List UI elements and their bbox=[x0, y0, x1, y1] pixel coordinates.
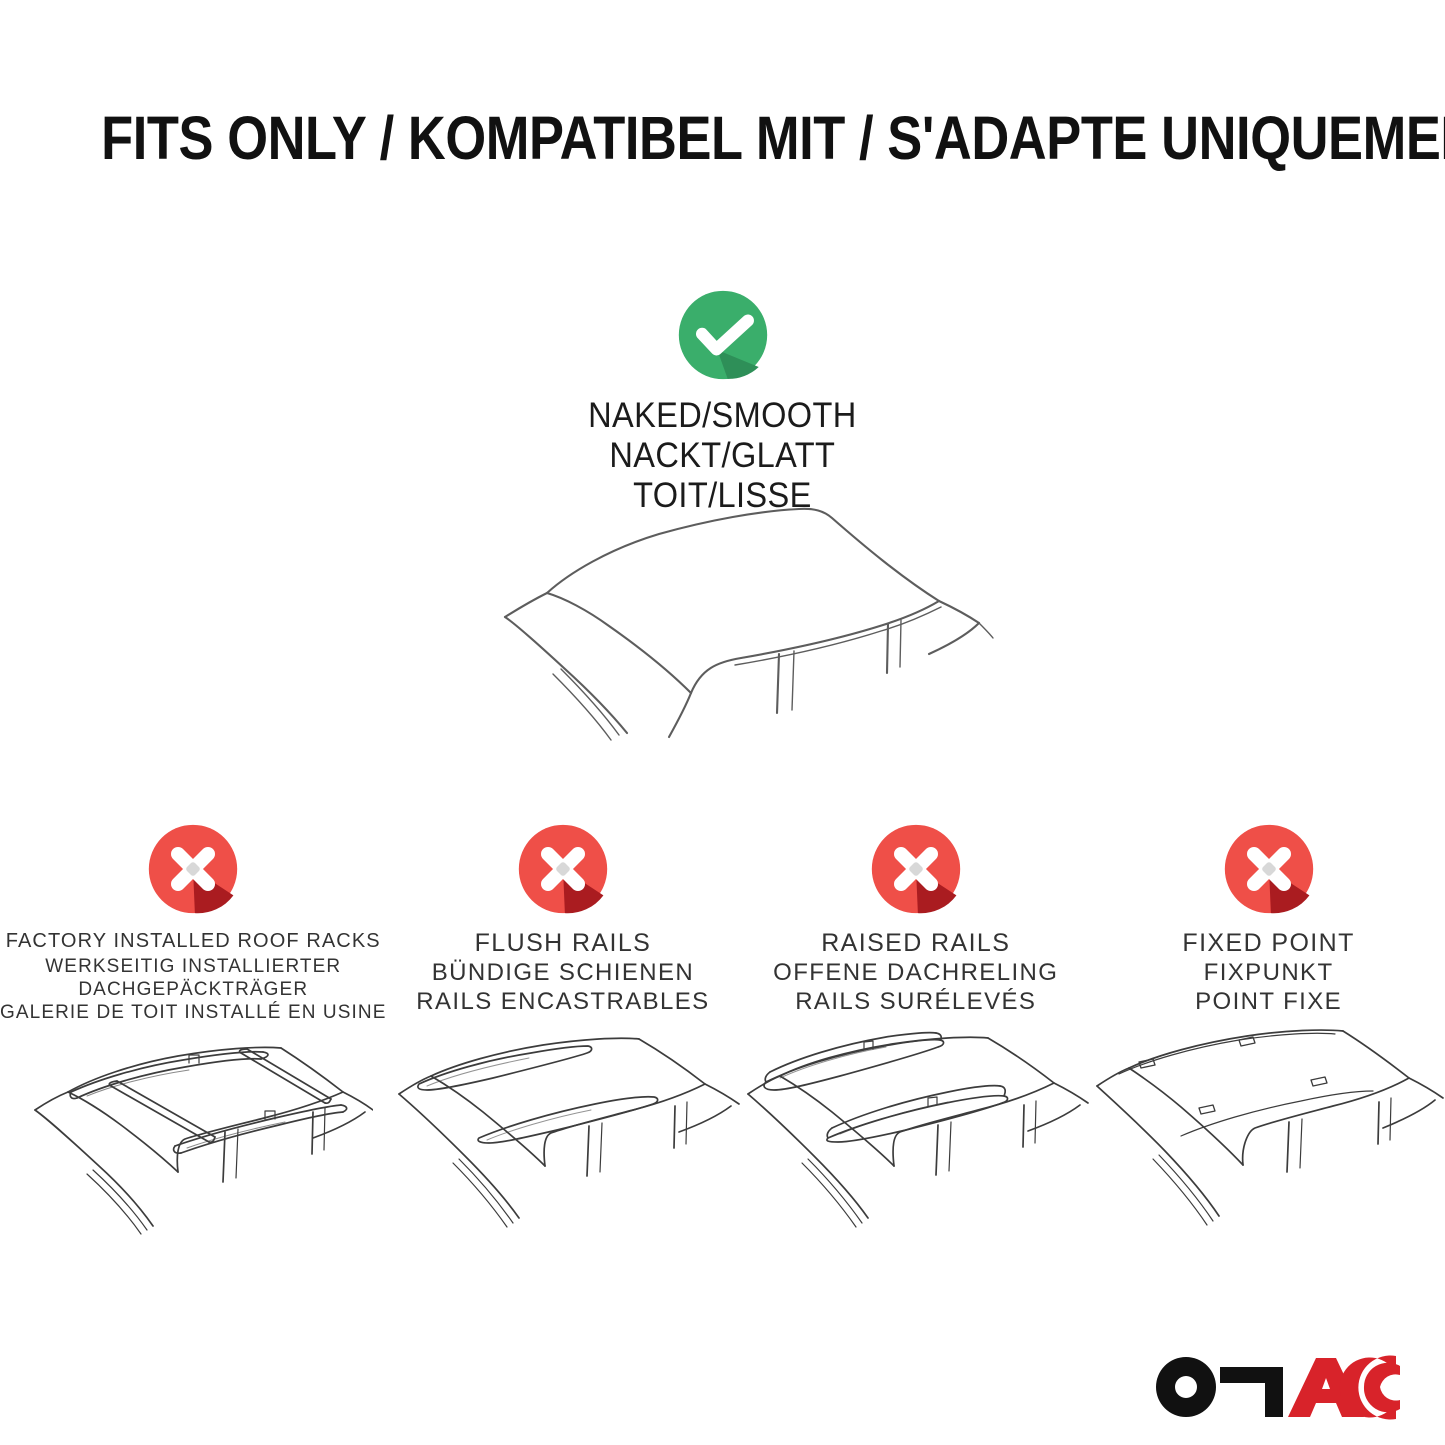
incompatible-item-factory-installed-roof-racks: FACTORY INSTALLED ROOF RACKS WERKSEITIG … bbox=[0, 822, 387, 1262]
x-circle-icon bbox=[869, 822, 963, 916]
compatible-label-de: NACKT/GLATT bbox=[588, 436, 857, 476]
car-roof-raised-rails-illustration bbox=[736, 1020, 1096, 1250]
incompatible-labels: FLUSH RAILS BÜNDIGE SCHIENEN RAILS ENCAS… bbox=[416, 928, 709, 1016]
car-roof-factory-rack-illustration bbox=[13, 1020, 373, 1250]
x-circle-icon bbox=[146, 822, 240, 916]
label-line-de: FIXPUNKT bbox=[1182, 958, 1354, 987]
label-line-en: RAISED RAILS bbox=[773, 928, 1058, 958]
label-line-de-1: WERKSEITIG INSTALLIERTER bbox=[0, 955, 387, 978]
label-line-de: BÜNDIGE SCHIENEN bbox=[416, 958, 709, 987]
product-compatibility-infographic: FITS ONLY / KOMPATIBEL MIT / S'ADAPTE UN… bbox=[0, 0, 1445, 1445]
label-line-de: OFFENE DACHRELING bbox=[773, 958, 1058, 987]
label-line-de-2: DACHGEPÄCKTRÄGER bbox=[0, 978, 387, 1001]
car-roof-naked-smooth-illustration bbox=[469, 497, 1009, 757]
incompatible-labels: FACTORY INSTALLED ROOF RACKS WERKSEITIG … bbox=[0, 928, 387, 1024]
omac-logo bbox=[1150, 1349, 1400, 1421]
label-line-fr: POINT FIXE bbox=[1182, 987, 1354, 1016]
check-circle-icon bbox=[676, 288, 770, 382]
logo-letter-o bbox=[1156, 1357, 1216, 1417]
label-line-en: FIXED POINT bbox=[1182, 928, 1354, 958]
incompatible-item-flush-rails: FLUSH RAILS BÜNDIGE SCHIENEN RAILS ENCAS… bbox=[387, 822, 740, 1262]
page-title: FITS ONLY / KOMPATIBEL MIT / S'ADAPTE UN… bbox=[101, 103, 1344, 173]
incompatible-labels: FIXED POINT FIXPUNKT POINT FIXE bbox=[1182, 928, 1354, 1016]
label-line-fr: RAILS ENCASTRABLES bbox=[416, 987, 709, 1016]
label-line-fr: RAILS SURÉLEVÉS bbox=[773, 987, 1058, 1016]
incompatible-item-fixed-point: FIXED POINT FIXPUNKT POINT FIXE bbox=[1092, 822, 1445, 1262]
incompatible-section: FACTORY INSTALLED ROOF RACKS WERKSEITIG … bbox=[0, 822, 1445, 1262]
car-roof-flush-rails-illustration bbox=[383, 1020, 743, 1250]
incompatible-item-raised-rails: RAISED RAILS OFFENE DACHRELING RAILS SUR… bbox=[739, 822, 1092, 1262]
x-circle-icon bbox=[1222, 822, 1316, 916]
car-roof-fixed-point-illustration bbox=[1089, 1020, 1445, 1250]
compatible-section: NAKED/SMOOTH NACKT/GLATT TOIT/LISSE bbox=[0, 288, 1445, 516]
label-line-en: FACTORY INSTALLED ROOF RACKS bbox=[0, 928, 387, 955]
incompatible-labels: RAISED RAILS OFFENE DACHRELING RAILS SUR… bbox=[773, 928, 1058, 1016]
x-circle-icon bbox=[516, 822, 610, 916]
label-line-en: FLUSH RAILS bbox=[416, 928, 709, 958]
compatible-label-en: NAKED/SMOOTH bbox=[588, 396, 857, 436]
